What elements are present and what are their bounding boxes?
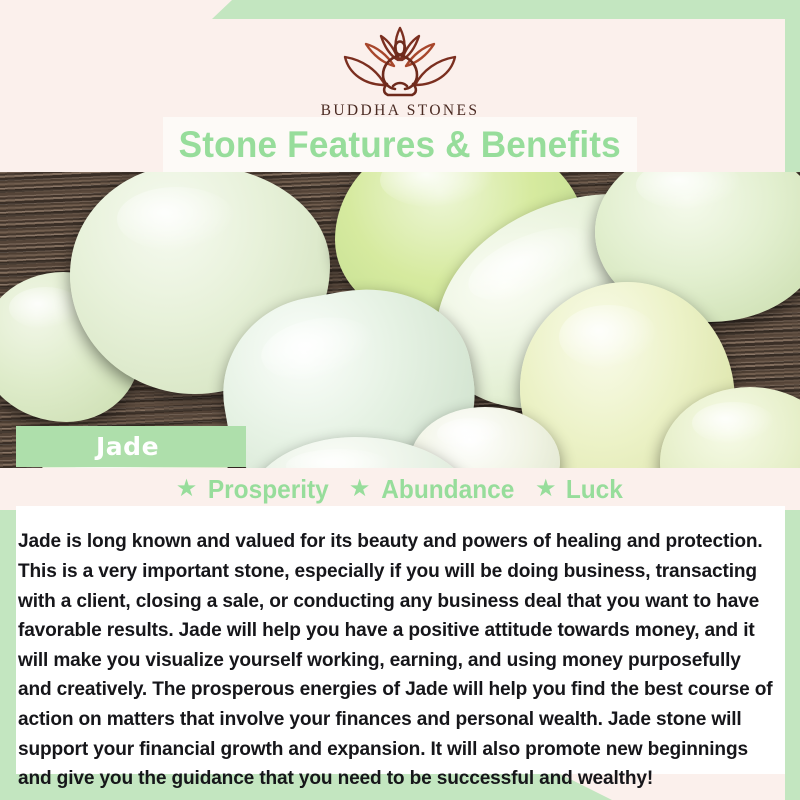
star-icon: ★ xyxy=(535,477,557,501)
title-banner: Stone Features & Benefits xyxy=(163,117,637,172)
star-icon: ★ xyxy=(176,477,198,501)
page-title: Stone Features & Benefits xyxy=(179,124,621,166)
benefit-item: ★ Luck xyxy=(535,474,624,505)
stone-name-badge: Jade xyxy=(16,426,246,467)
star-icon: ★ xyxy=(349,477,371,501)
benefit-label: Luck xyxy=(565,474,622,505)
stone-photo xyxy=(0,172,800,468)
benefits-row: ★ Prosperity ★ Abundance ★ Luck xyxy=(0,468,800,510)
benefit-label: Abundance xyxy=(382,474,515,505)
benefit-item: ★ Prosperity xyxy=(176,474,333,505)
benefit-label: Prosperity xyxy=(208,474,329,505)
lotus-meditation-icon xyxy=(325,22,475,100)
brand-logo: BUDDHA STONES xyxy=(0,22,800,120)
green-accent-top-band xyxy=(212,0,800,19)
infographic-page: BUDDHA STONES Stone Features & Benefits … xyxy=(0,0,800,800)
description-text: Jade is long known and valued for its be… xyxy=(18,527,773,793)
benefit-item: ★ Abundance xyxy=(349,474,519,505)
stone-name-label: Jade xyxy=(96,432,159,461)
description-panel: Jade is long known and valued for its be… xyxy=(16,506,785,774)
